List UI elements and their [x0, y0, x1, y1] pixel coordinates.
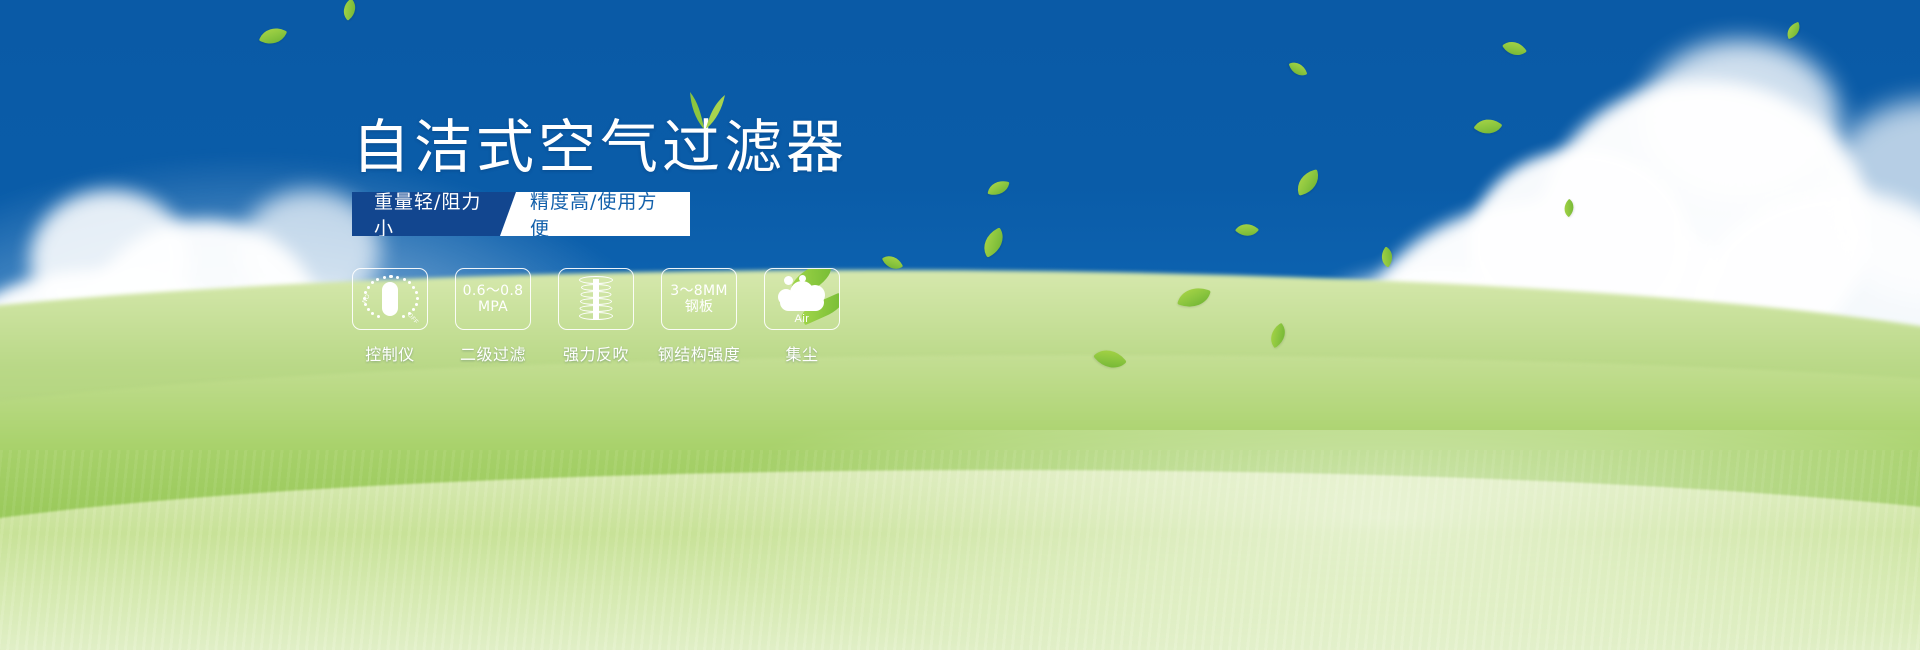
tab-precision-convenience[interactable]: 精度高/使用方便 — [500, 192, 690, 236]
feature-caption: 二级过滤 — [460, 341, 526, 365]
pressure-value: 0.6〜0.8 — [463, 283, 524, 299]
feature-icon-box: NO OFF — [352, 268, 428, 330]
feature-control-instrument[interactable]: NO OFF — [352, 268, 428, 365]
steel-material: 钢板 — [685, 299, 714, 315]
steel-plate-text-icon: 3〜8MM 钢板 — [670, 283, 727, 315]
steel-thickness: 3〜8MM — [670, 283, 727, 299]
filter-coil-icon — [576, 275, 616, 323]
feature-caption: 钢结构强度 — [658, 341, 741, 365]
feature-list: NO OFF — [352, 268, 840, 365]
feature-steel-strength[interactable]: 3〜8MM 钢板 钢结构强度 — [661, 268, 737, 365]
feature-dust-collection[interactable]: Air 集尘 — [764, 268, 840, 365]
feature-icon-box: 0.6〜0.8 MPA — [455, 268, 531, 330]
subtitle-tabs: 重量轻/阻力小 精度高/使用方便 — [352, 192, 690, 236]
pressure-text-icon: 0.6〜0.8 MPA — [463, 283, 524, 315]
feature-caption: 强力反吹 — [563, 341, 629, 365]
feature-strong-backblow[interactable]: 强力反吹 — [558, 268, 634, 365]
tab-weight-resistance[interactable]: 重量轻/阻力小 — [352, 192, 516, 236]
feature-secondary-filtration[interactable]: 0.6〜0.8 MPA 二级过滤 — [455, 268, 531, 365]
feature-icon-box: 3〜8MM 钢板 — [661, 268, 737, 330]
title-block: 自洁式空气过滤器 — [352, 118, 848, 176]
feature-icon-box — [558, 268, 634, 330]
feature-caption: 集尘 — [785, 341, 818, 365]
feature-icon-box: Air — [764, 268, 840, 330]
pressure-unit: MPA — [478, 299, 508, 315]
banner-content: 自洁式空气过滤器 重量轻/阻力小 精度高/使用方便 NO OFF — [0, 0, 1920, 650]
air-cloud-icon: Air — [772, 273, 832, 325]
air-label: Air — [772, 313, 832, 325]
title-leaf-icon — [682, 90, 728, 130]
hero-banner: 自洁式空气过滤器 重量轻/阻力小 精度高/使用方便 NO OFF — [0, 0, 1920, 650]
page-title: 自洁式空气过滤器 — [352, 118, 848, 176]
feature-caption: 控制仪 — [365, 341, 415, 365]
control-knob-icon: NO OFF — [363, 274, 417, 324]
